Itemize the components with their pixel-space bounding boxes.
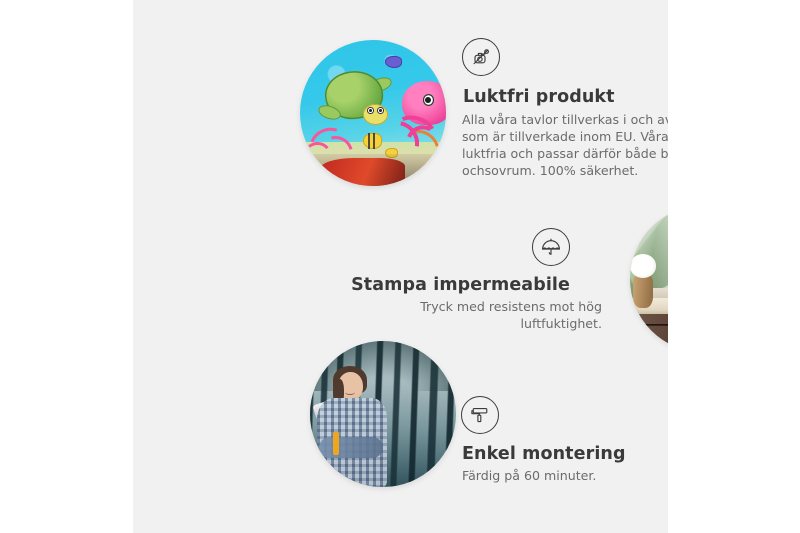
woman-smile: [345, 389, 355, 394]
promo-graphic: Luktfri produkt Alla våra tavlor tillver…: [0, 0, 800, 533]
turtle-head: [363, 104, 388, 124]
bathroom-scene-art: [630, 206, 668, 352]
paint-roller-icon: [461, 396, 499, 434]
feature-waterproof-body: Tryck med resistens mot hög luftfuktighe…: [348, 298, 602, 332]
sea-foreground-red: [320, 158, 405, 186]
feature-odorless: Luktfri produkt Alla våra tavlor tillver…: [462, 38, 668, 179]
bathroom-cabinet: [639, 314, 668, 352]
fish-purple: [385, 56, 403, 68]
umbrella-icon: [532, 228, 570, 266]
octopus-eye: [423, 94, 435, 106]
feature-easy-mounting: Enkel montering Färdig på 60 minuter.: [461, 396, 668, 484]
no-perfume-icon: [462, 38, 500, 76]
woman-crossed-arms: [319, 437, 383, 457]
photo-bathroom-scene: [630, 206, 668, 352]
photo-painter-scene: [310, 341, 456, 487]
fish-yellow-large: [363, 133, 382, 149]
forest-canopy: [310, 341, 456, 391]
feature-waterproof: Stampa impermeabile Tryck med resistens …: [348, 228, 603, 332]
turtle-eye-right: [377, 107, 384, 114]
feature-easy-mounting-body: Färdig på 60 minuter.: [462, 467, 668, 484]
bathroom-vase: [633, 276, 653, 308]
photo-sea-scene: [300, 40, 446, 186]
promo-panel: Luktfri produkt Alla våra tavlor tillver…: [133, 0, 668, 533]
feature-waterproof-title: Stampa impermeabile: [348, 275, 570, 295]
turtle-eye-left: [367, 107, 374, 114]
roller-grip: [333, 432, 339, 455]
feature-odorless-title: Luktfri produkt: [463, 87, 668, 107]
feature-odorless-body: Alla våra tavlor tillverkas i och av pro…: [462, 111, 668, 179]
bathroom-flowers: [630, 254, 656, 277]
sea-scene-art: [300, 40, 446, 186]
painter-scene-art: [310, 341, 456, 487]
feature-easy-mounting-title: Enkel montering: [462, 444, 668, 464]
